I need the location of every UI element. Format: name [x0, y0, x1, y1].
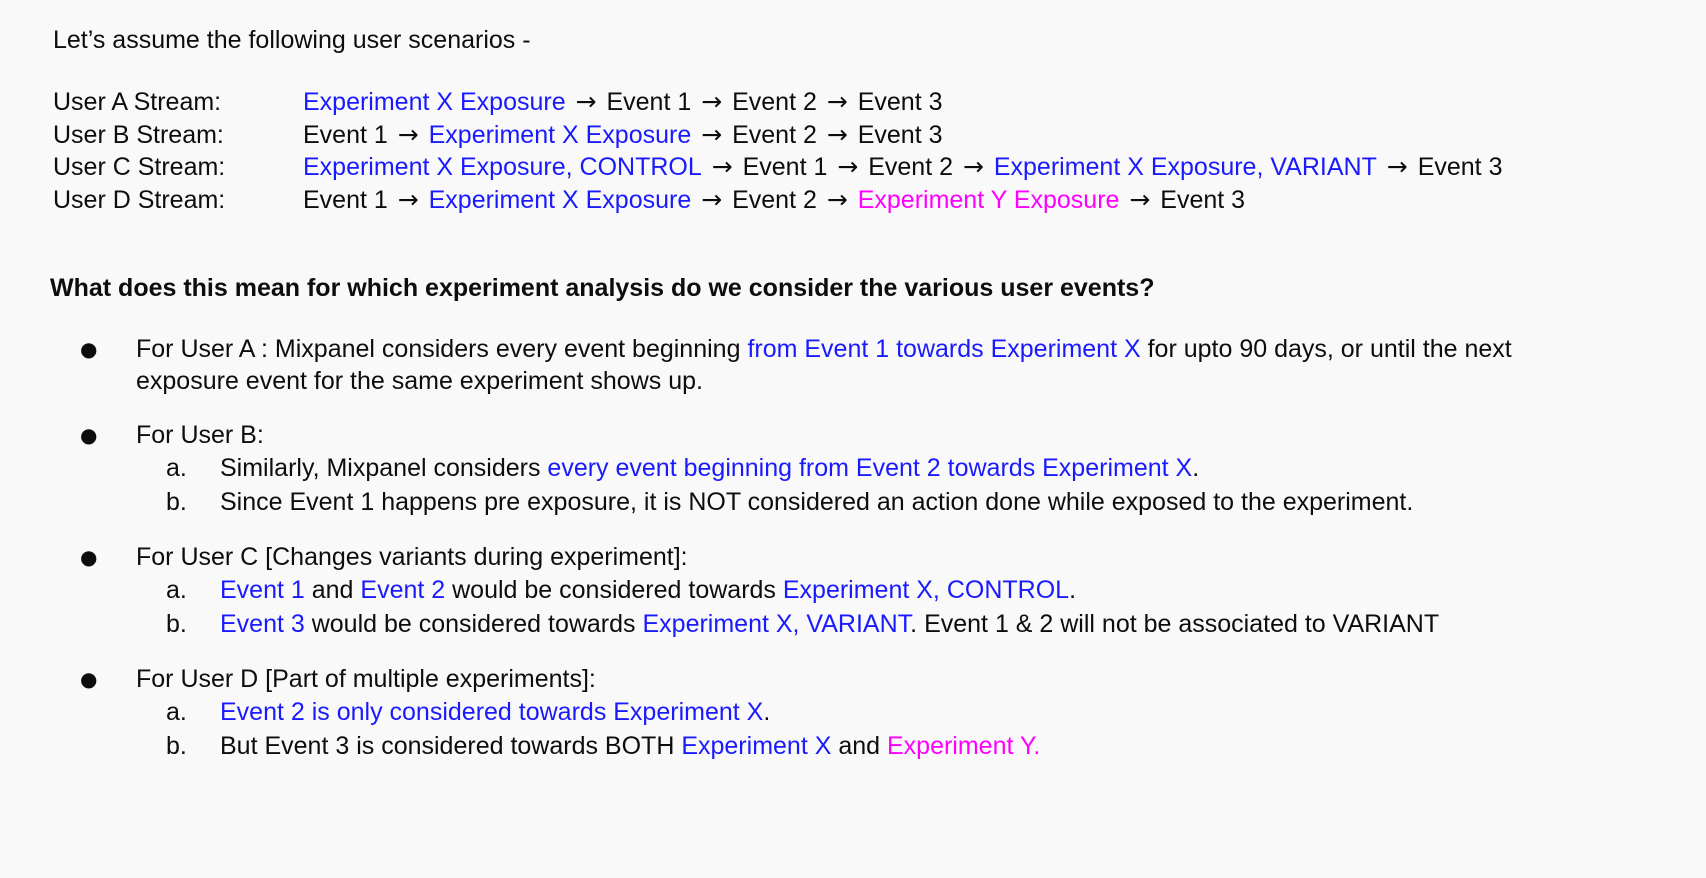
bullet-dot-icon: ●: [80, 663, 97, 695]
arrow-icon: →: [702, 152, 743, 181]
stream-segment: Event 3: [858, 121, 943, 149]
bullet-dot-icon: ●: [80, 333, 97, 365]
list-item-text: For User C [Changes variants during expe…: [136, 541, 1556, 573]
user-stream-row: User D Stream:Event 1 → Experiment X Exp…: [53, 184, 1502, 217]
sub-list-item-text: Similarly, Mixpanel considers every even…: [220, 454, 1199, 482]
stream-segment: Event 3: [1160, 186, 1245, 214]
text-run: every event beginning from Event 2 towar…: [547, 454, 1192, 482]
sub-list-marker: a.: [166, 695, 187, 729]
text-run: For User A : Mixpanel considers every ev…: [136, 335, 747, 363]
user-stream-flow: Event 1 → Experiment X Exposure → Event …: [303, 119, 943, 152]
text-run: would be considered towards: [305, 610, 643, 638]
user-stream-label: User D Stream:: [53, 185, 303, 217]
bullet-dot-icon: ●: [80, 541, 97, 573]
list-item-text: For User D [Part of multiple experiments…: [136, 663, 1556, 695]
sub-list-marker: a.: [166, 451, 187, 485]
user-stream-row: User A Stream:Experiment X Exposure → Ev…: [53, 86, 1502, 119]
stream-segment: Event 1: [303, 186, 388, 214]
sub-list-item: b.Since Event 1 happens pre exposure, it…: [0, 485, 1706, 519]
text-run: from Event 1 towards Experiment X: [747, 335, 1140, 363]
arrow-icon: →: [827, 152, 868, 181]
arrow-icon: →: [691, 120, 732, 149]
user-stream-row: User B Stream:Event 1 → Experiment X Exp…: [53, 119, 1502, 152]
user-stream-flow: Experiment X Exposure, CONTROL → Event 1…: [303, 151, 1502, 184]
sub-list-item: b.But Event 3 is considered towards BOTH…: [0, 729, 1706, 763]
stream-segment: Event 1: [303, 121, 388, 149]
text-run: Since Event 1 happens pre exposure, it i…: [220, 488, 1413, 516]
text-run: would be considered towards: [445, 576, 783, 604]
user-stream-label: User B Stream:: [53, 120, 303, 152]
user-explanation-list: ●For User A : Mixpanel considers every e…: [0, 333, 1706, 785]
arrow-icon: →: [1377, 152, 1418, 181]
arrow-icon: →: [388, 120, 429, 149]
sub-list-item-text: Since Event 1 happens pre exposure, it i…: [220, 488, 1413, 516]
stream-segment: Event 1: [743, 153, 828, 181]
stream-segment: Event 1: [606, 88, 691, 116]
stream-segment: Event 3: [1418, 153, 1503, 181]
list-item: ●For User D [Part of multiple experiment…: [0, 663, 1706, 695]
user-stream-flow: Experiment X Exposure → Event 1 → Event …: [303, 86, 943, 119]
sub-list-item-text: Event 2 is only considered towards Exper…: [220, 698, 770, 726]
text-run: .: [1192, 454, 1199, 482]
user-stream-label: User A Stream:: [53, 87, 303, 119]
arrow-icon: →: [691, 87, 732, 116]
stream-segment: Event 3: [858, 88, 943, 116]
sub-list-item-text: But Event 3 is considered towards BOTH E…: [220, 732, 1040, 760]
text-run: For User D [Part of multiple experiments…: [136, 665, 596, 693]
arrow-icon: →: [1119, 185, 1160, 214]
text-run: and: [305, 576, 361, 604]
user-stream-row: User C Stream:Experiment X Exposure, CON…: [53, 151, 1502, 184]
bullet-dot-icon: ●: [80, 419, 97, 451]
explanation-block: ●For User B:a.Similarly, Mixpanel consid…: [0, 419, 1706, 519]
text-run: Experiment X, CONTROL: [783, 576, 1069, 604]
arrow-icon: →: [953, 152, 994, 181]
arrow-icon: →: [817, 87, 858, 116]
sub-list-item: b.Event 3 would be considered towards Ex…: [0, 607, 1706, 641]
explanation-block: ●For User D [Part of multiple experiment…: [0, 663, 1706, 763]
intro-line: Let’s assume the following user scenario…: [53, 24, 531, 56]
arrow-icon: →: [566, 87, 607, 116]
sub-list-marker: b.: [166, 607, 187, 641]
text-run: But Event 3 is considered towards BOTH: [220, 732, 681, 760]
arrow-icon: →: [817, 120, 858, 149]
text-run: Experiment X, VARIANT: [642, 610, 910, 638]
stream-segment: Event 2: [868, 153, 953, 181]
stream-segment: Experiment X Exposure: [303, 88, 566, 116]
list-item-text: For User A : Mixpanel considers every ev…: [136, 333, 1556, 397]
document-page: Let’s assume the following user scenario…: [0, 0, 1706, 878]
sub-list-item: a.Event 1 and Event 2 would be considere…: [0, 573, 1706, 607]
explanation-block: ●For User A : Mixpanel considers every e…: [0, 333, 1706, 397]
text-run: Experiment Y.: [887, 732, 1040, 760]
text-run: Event 2: [360, 576, 445, 604]
sub-list-item-text: Event 3 would be considered towards Expe…: [220, 610, 1439, 638]
sub-list-item-text: Event 1 and Event 2 would be considered …: [220, 576, 1076, 604]
stream-segment: Event 2: [732, 88, 817, 116]
text-run: Similarly, Mixpanel considers: [220, 454, 547, 482]
sub-list-marker: b.: [166, 729, 187, 763]
sub-list-item: a.Similarly, Mixpanel considers every ev…: [0, 451, 1706, 485]
sub-list-item: a.Event 2 is only considered towards Exp…: [0, 695, 1706, 729]
stream-segment: Experiment X Exposure, CONTROL: [303, 153, 702, 181]
text-run: For User B:: [136, 421, 264, 449]
stream-segment: Experiment X Exposure: [429, 121, 692, 149]
list-item: ●For User B:: [0, 419, 1706, 451]
text-run: Event 1: [220, 576, 305, 604]
arrow-icon: →: [691, 185, 732, 214]
text-run: and: [831, 732, 887, 760]
text-run: Event 3: [220, 610, 305, 638]
section-question-heading: What does this mean for which experiment…: [50, 272, 1154, 304]
arrow-icon: →: [388, 185, 429, 214]
text-run: .: [1069, 576, 1076, 604]
list-item-text: For User B:: [136, 419, 1556, 451]
text-run: Event 2 is only considered towards Exper…: [220, 698, 763, 726]
list-item: ●For User C [Changes variants during exp…: [0, 541, 1706, 573]
text-run: . Event 1 & 2 will not be associated to …: [910, 610, 1439, 638]
stream-segment: Event 2: [732, 121, 817, 149]
stream-segment: Event 2: [732, 186, 817, 214]
stream-segment: Experiment X Exposure, VARIANT: [994, 153, 1377, 181]
explanation-block: ●For User C [Changes variants during exp…: [0, 541, 1706, 641]
text-run: For User C [Changes variants during expe…: [136, 543, 688, 571]
stream-segment: Experiment Y Exposure: [858, 186, 1120, 214]
text-run: Experiment X: [681, 732, 831, 760]
user-stream-list: User A Stream:Experiment X Exposure → Ev…: [53, 86, 1502, 216]
stream-segment: Experiment X Exposure: [429, 186, 692, 214]
user-stream-flow: Event 1 → Experiment X Exposure → Event …: [303, 184, 1245, 217]
sub-list-marker: b.: [166, 485, 187, 519]
sub-list-marker: a.: [166, 573, 187, 607]
text-run: .: [763, 698, 770, 726]
user-stream-label: User C Stream:: [53, 152, 303, 184]
arrow-icon: →: [817, 185, 858, 214]
list-item: ●For User A : Mixpanel considers every e…: [0, 333, 1706, 397]
